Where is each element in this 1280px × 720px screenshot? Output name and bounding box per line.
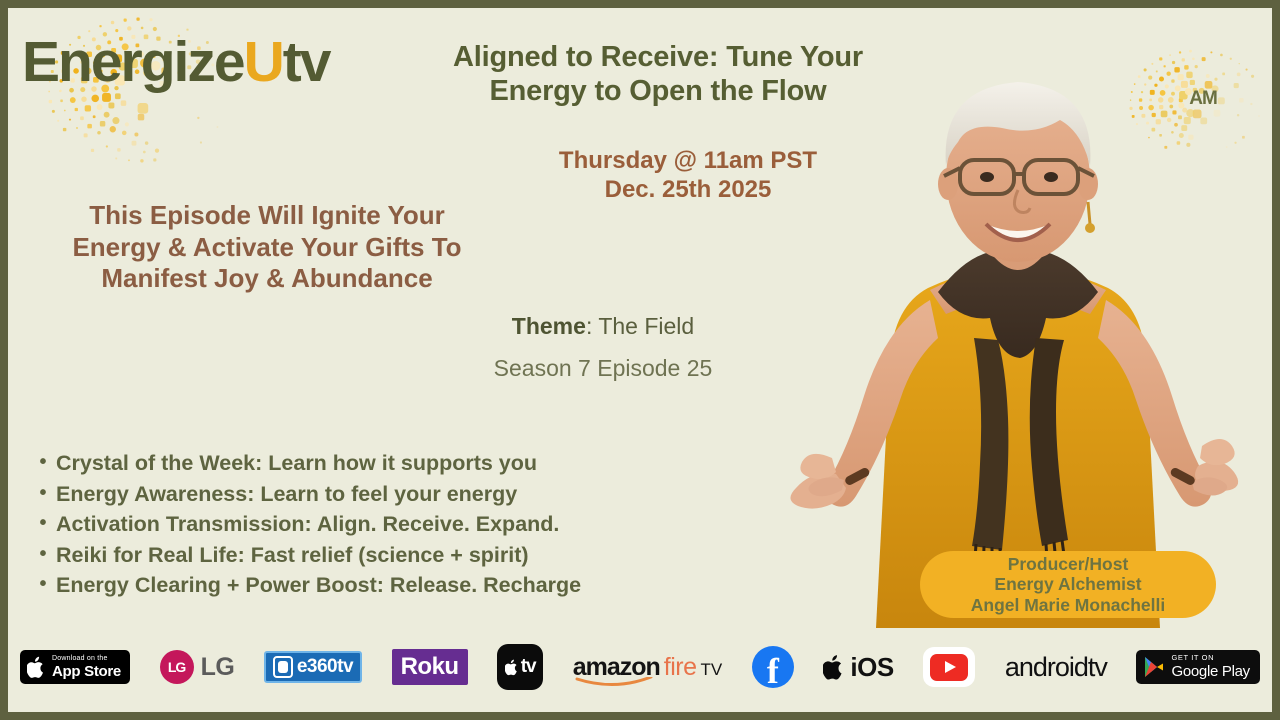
host-left-hand [790,454,846,509]
fire-label: fire [664,653,697,682]
platform-android-tv[interactable]: androidtv [1005,652,1107,683]
android-label: android [1005,652,1088,682]
lg-mark: LG [160,650,194,684]
list-item-label: Energy Clearing + Power Boost: Release. … [56,570,581,601]
theme-separator: : [586,313,598,339]
producer-host-badge: Producer/Host Energy Alchemist Angel Mar… [920,551,1216,618]
apple-icon [505,659,519,676]
lg-face-icon: LG [160,650,194,684]
host-eye-right [1044,172,1058,182]
list-item: • Activation Transmission: Align. Receiv… [30,509,810,540]
brand-tagline: Energy • Joy • Abundance [66,180,263,182]
platform-ios[interactable]: iOS [823,652,893,683]
platform-e360tv[interactable]: e360tv [264,651,362,683]
badge-name: Angel Marie Monachelli [971,595,1165,616]
youtube-icon [923,647,975,687]
lg-label: LG [201,653,235,682]
platform-apple-tv[interactable]: tv [497,644,543,690]
fire-tv-label: TV [701,660,723,680]
promise-line-3: Manifest Joy & Abundance [12,263,522,295]
ios-label: iOS [850,652,893,683]
host-photo [778,38,1258,628]
promo-canvas: EnergizeUtv Energy • Joy • Abundance AM … [8,8,1272,712]
host-eye-left [980,172,994,182]
apple-tv-label: tv [521,656,536,678]
host-earring [1088,202,1090,224]
platform-youtube[interactable] [923,647,975,687]
theme-label: Theme [512,313,586,339]
theme-value: The Field [598,313,694,339]
google-play-icon [1144,656,1164,678]
amazon-smile-icon [575,677,653,687]
list-item-label: Activation Transmission: Align. Receive.… [56,509,559,540]
bullet-icon: • [30,479,56,507]
bullet-icon: • [30,509,56,537]
bullet-icon: • [30,570,56,598]
list-item: • Reiki for Real Life: Fast relief (scie… [30,540,810,571]
google-play-label: Google Play [1171,664,1249,679]
google-play-eyebrow: GET IT ON [1171,654,1249,662]
e360tv-label: e360tv [297,656,353,678]
platform-logo-row: Download on the App Store LG LG e360tv [20,636,1260,698]
theme-block: Theme: The Field Season 7 Episode 25 [388,314,818,382]
episode-topics-list: • Crystal of the Week: Learn how it supp… [30,448,810,601]
promise-line-2: Energy & Activate Your Gifts To [12,232,522,264]
platform-facebook[interactable]: f [752,646,794,688]
badge-title: Energy Alchemist [994,574,1141,595]
promise-line-1: This Episode Will Ignite Your [12,200,522,232]
bullet-icon: • [30,540,56,568]
badge-role: Producer/Host [1008,554,1129,575]
promo-graphic: EnergizeUtv Energy • Joy • Abundance AM … [0,0,1280,720]
e360tv-icon [273,656,293,678]
app-store-eyebrow: Download on the [52,655,121,662]
apple-icon [823,654,845,681]
roku-label: Roku [392,649,468,685]
list-item-label: Reiki for Real Life: Fast relief (scienc… [56,540,529,571]
list-item-label: Crystal of the Week: Learn how it suppor… [56,448,537,479]
brand-tagline-arc: Energy • Joy • Abundance [14,72,314,182]
facebook-icon: f [767,655,779,688]
host-right-hand [1192,439,1238,496]
platform-amazon-fire-tv[interactable]: amazon fire TV [573,653,723,682]
platform-lg[interactable]: LG LG [160,650,235,684]
bullet-icon: • [30,448,56,476]
app-store-label: App Store [52,664,121,679]
list-item: • Energy Clearing + Power Boost: Release… [30,570,810,601]
energizeutv-logo: EnergizeUtv Energy • Joy • Abundance [8,12,368,187]
theme-line: Theme: The Field [388,314,818,339]
list-item: • Crystal of the Week: Learn how it supp… [30,448,810,479]
list-item: • Energy Awareness: Learn to feel your e… [30,479,810,510]
apple-icon [27,656,46,679]
list-item-label: Energy Awareness: Learn to feel your ene… [56,479,517,510]
host-earring-bead [1085,223,1095,233]
season-episode: Season 7 Episode 25 [388,355,818,382]
platform-app-store[interactable]: Download on the App Store [20,650,130,684]
episode-promise: This Episode Will Ignite Your Energy & A… [12,200,522,295]
android-tv-suffix: tv [1088,652,1107,682]
platform-roku[interactable]: Roku [392,649,468,685]
platform-google-play[interactable]: GET IT ON Google Play [1136,650,1259,685]
